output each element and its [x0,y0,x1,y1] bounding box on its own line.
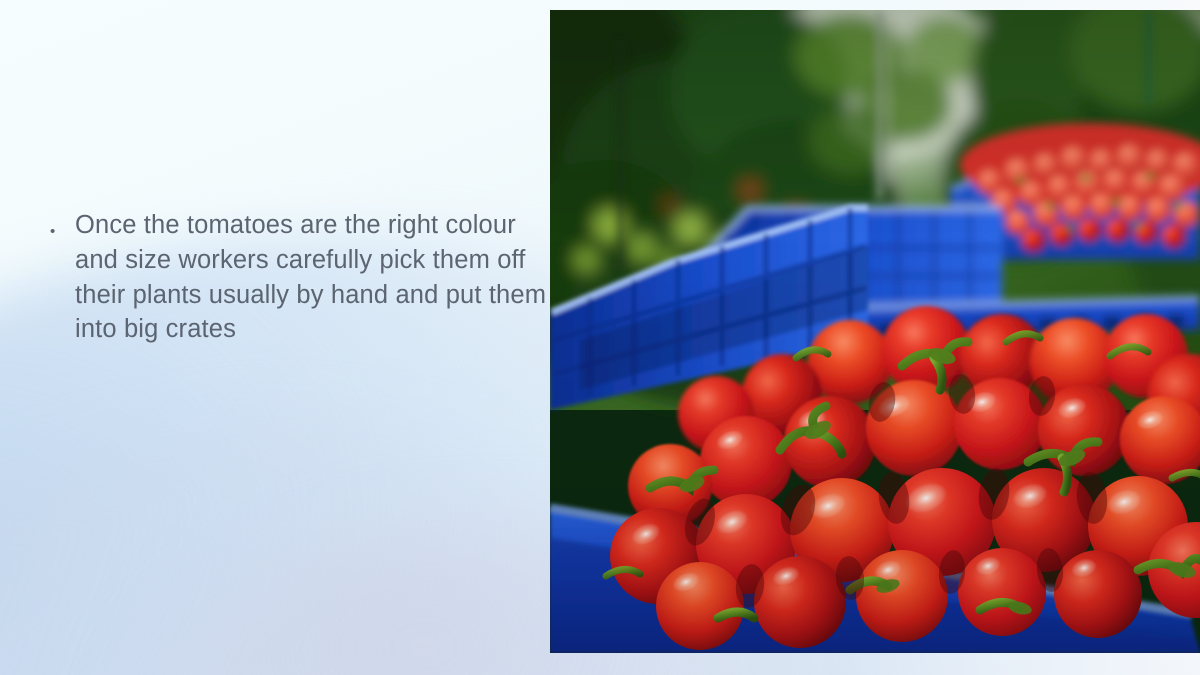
tomato-crates-illustration [550,10,1200,653]
bullet-item-text: Once the tomatoes are the right colour a… [75,208,550,347]
bullet-list-item: • Once the tomatoes are the right colour… [50,208,550,347]
slide-image-tomato-crates [550,10,1200,653]
slide: • Once the tomatoes are the right colour… [0,0,1200,675]
photo-vignette [550,10,1200,653]
body-text-block: • Once the tomatoes are the right colour… [50,208,550,347]
bullet-point-icon: • [50,208,75,239]
